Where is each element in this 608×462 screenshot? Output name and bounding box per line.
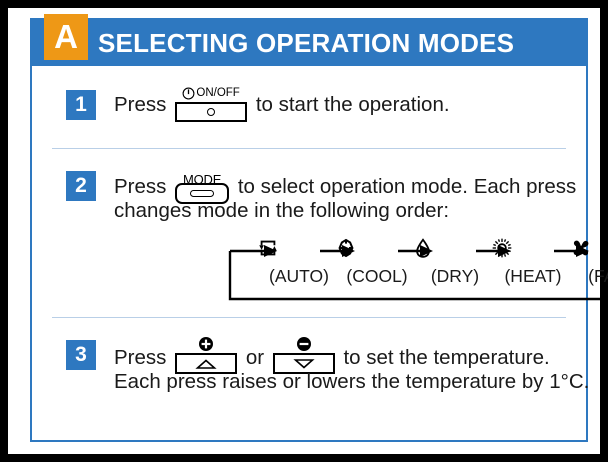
manual-page: A SELECTING OPERATION MODES 1 Press (0, 0, 608, 462)
temp-up-caption (175, 336, 237, 352)
step-3-text-middle: or (246, 346, 264, 369)
step-1-text-after: to start the operation. (256, 93, 450, 116)
onoff-button[interactable]: ON/OFF (175, 88, 247, 122)
onoff-key-body (175, 102, 247, 122)
section-header: A SELECTING OPERATION MODES (32, 20, 586, 66)
step-2-text-after: to select operation mode. Each press (238, 175, 576, 198)
step-3-line2: Each press raises or lowers the temperat… (114, 368, 589, 395)
mode-cool: (COOL) (335, 237, 419, 287)
onoff-key-dot-icon (207, 108, 215, 116)
instruction-card: A SELECTING OPERATION MODES 1 Press (30, 18, 588, 442)
water-drop-icon (413, 237, 497, 263)
step-number-2: 2 (66, 171, 96, 201)
step-number-1: 1 (66, 90, 96, 120)
step-2-text: Press MODE to select operation mode. Eac… (114, 169, 576, 200)
mode-dry-label: (DRY) (413, 266, 497, 287)
mode-fan-label: (FAN) (569, 266, 608, 287)
mode-heat: (HEAT) (491, 237, 575, 287)
section-badge: A (44, 14, 88, 60)
step-2-line2: changes mode in the following order: (114, 197, 449, 224)
onoff-caption: ON/OFF (175, 86, 247, 101)
step-3-text-before: Press (114, 346, 166, 369)
mode-fan: (FAN) (569, 237, 608, 287)
step-2-text-before: Press (114, 175, 166, 198)
plus-circle-icon (198, 336, 214, 352)
mode-dry: (DRY) (413, 237, 497, 287)
mode-heat-label: (HEAT) (491, 266, 575, 287)
power-icon (182, 87, 195, 100)
step-1-text: Press ON/OFF (114, 88, 450, 118)
mode-auto-label: (AUTO) (257, 266, 341, 287)
mode-auto: (AUTO) (257, 237, 341, 287)
step-1-text-before: Press (114, 93, 166, 116)
mode-cycle-diagram: (AUTO) (COOL) (220, 233, 608, 305)
auto-cycle-icon (257, 237, 341, 263)
step-3-text: Press (114, 338, 550, 371)
fan-blades-icon (569, 237, 608, 263)
step-2: 2 Press MODE to select operation mode. E… (48, 149, 570, 317)
temp-down-caption (273, 336, 335, 352)
snowflake-icon (335, 237, 419, 263)
step-1: 1 Press ON/OFF (48, 66, 570, 148)
page-title: SELECTING OPERATION MODES (98, 28, 514, 59)
sun-icon (491, 237, 575, 263)
mode-key-bar-icon (190, 190, 214, 197)
mode-cool-label: (COOL) (335, 266, 419, 287)
step-number-3: 3 (66, 340, 96, 370)
step-3: 3 Press (48, 318, 570, 418)
step-3-text-after: to set the temperature. (343, 346, 549, 369)
steps-container: 1 Press ON/OFF (32, 66, 586, 440)
minus-circle-icon (296, 336, 312, 352)
